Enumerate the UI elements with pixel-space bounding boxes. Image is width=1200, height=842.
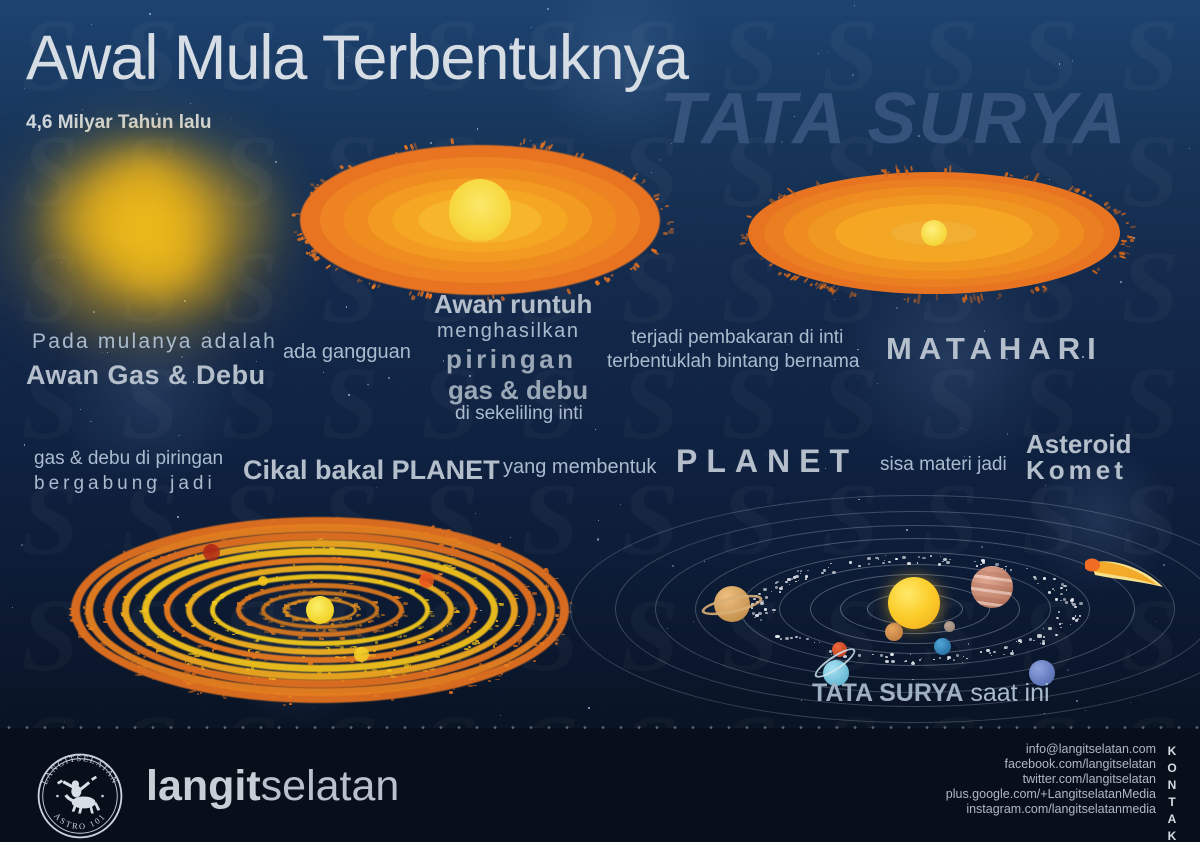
asteroid: [814, 642, 815, 643]
asteroid: [772, 609, 775, 612]
ring-fleck: [84, 612, 89, 615]
disk-edge-fleck: [769, 263, 773, 267]
ring-fleck: [347, 576, 351, 579]
disk-edge-fleck: [335, 267, 339, 271]
ring-fleck: [238, 607, 243, 609]
asteroid: [921, 658, 922, 659]
disk-edge-fleck: [655, 198, 660, 201]
star: [430, 142, 432, 144]
disk-edge-fleck: [1082, 190, 1087, 195]
asteroid: [1065, 601, 1068, 604]
disk-edge-fleck: [368, 282, 371, 285]
jupiter-bands: [971, 566, 1013, 608]
ring-fleck: [69, 614, 73, 616]
ring-fleck: [330, 547, 335, 550]
ring-fleck: [446, 643, 450, 645]
asteroid: [1037, 634, 1041, 637]
ring-fleck: [495, 598, 497, 600]
ring-fleck: [168, 554, 172, 557]
ring-fleck: [418, 628, 422, 630]
ring-fleck: [246, 668, 250, 671]
ring-fleck: [268, 620, 273, 622]
disk-edge-fleck: [668, 230, 675, 234]
asteroid: [986, 649, 990, 652]
ring-fleck: [328, 629, 330, 631]
caption-stage2: ada gangguan: [283, 341, 411, 364]
ring-fleck: [477, 642, 480, 644]
ring-fleck: [86, 624, 89, 627]
star: [443, 360, 444, 361]
caption-stage6-line2: bergabung jadi: [34, 473, 216, 495]
ring-fleck: [417, 641, 420, 644]
ring-fleck: [188, 653, 193, 655]
ring-fleck: [78, 632, 81, 635]
ring-fleck: [258, 569, 263, 570]
ring-fleck: [292, 602, 296, 605]
ring-fleck: [285, 614, 287, 616]
ring-fleck: [237, 565, 242, 568]
ring-fleck: [343, 656, 346, 659]
ring-fleck: [323, 546, 325, 548]
asteroid: [779, 591, 781, 593]
ring-fleck: [256, 651, 258, 653]
disk-edge-fleck: [936, 293, 938, 301]
ring-fleck: [301, 592, 305, 594]
ring-fleck: [350, 567, 353, 570]
asteroid: [867, 557, 871, 560]
caption-stage3-line2: menghasilkan: [437, 320, 580, 343]
ring-fleck: [469, 678, 473, 680]
gas-cloud-puff: [154, 240, 202, 273]
planet-earth: [934, 638, 951, 655]
ring-fleck: [298, 636, 303, 639]
ring-fleck: [105, 599, 107, 601]
ring-fleck: [219, 560, 222, 563]
ring-fleck: [105, 617, 107, 620]
gas-cloud-puff: [85, 130, 195, 219]
protostar-core: [306, 596, 334, 624]
star: [173, 297, 174, 298]
planet-venus: [885, 623, 903, 641]
disk-edge-fleck: [1009, 173, 1012, 176]
disk-edge-fleck: [404, 144, 409, 150]
ring-fleck: [357, 634, 362, 637]
asteroid: [787, 578, 790, 581]
asteroid: [764, 608, 767, 610]
star: [376, 487, 377, 488]
ring-fleck: [289, 703, 292, 705]
ring-fleck: [341, 680, 344, 682]
gas-cloud-puff: [109, 155, 173, 195]
disk-edge-fleck: [778, 271, 783, 276]
ring-fleck: [518, 616, 520, 617]
disk-edge-fleck: [746, 233, 749, 236]
contact-item[interactable]: instagram.com/langitselatanmedia: [946, 802, 1156, 817]
protoplanet-yellow: [354, 647, 369, 662]
asteroid: [807, 570, 808, 571]
ring-fleck: [473, 685, 477, 686]
protoplanetary-rings-illustration: [70, 515, 570, 705]
ring-fleck: [489, 628, 493, 630]
asteroid: [1061, 623, 1063, 624]
ring-fleck: [160, 556, 164, 557]
ring-fleck: [432, 525, 435, 527]
disk-edge-fleck: [320, 178, 326, 183]
asteroid: [1071, 598, 1074, 600]
ring-fleck: [70, 619, 75, 621]
protoplanetary-disk-collapsing: [300, 145, 660, 295]
asteroid: [1063, 585, 1066, 588]
gas-cloud-puff: [40, 233, 152, 342]
ring-fleck: [370, 620, 374, 622]
gas-cloud-puff: [46, 217, 100, 251]
ring-fleck: [306, 533, 309, 535]
gas-cloud-puff: [58, 169, 169, 243]
contact-list: info@langitselatan.comfacebook.com/langi…: [946, 742, 1156, 817]
ring-fleck: [182, 634, 186, 636]
caption-stage10: sisa materi jadi: [880, 454, 1007, 476]
ring-fleck: [234, 547, 236, 550]
ring-fleck: [468, 685, 473, 686]
asteroid: [946, 561, 950, 564]
ring-fleck: [378, 581, 383, 584]
ring-fleck: [448, 622, 452, 624]
disk-edge-fleck: [949, 166, 951, 173]
asteroid: [922, 557, 925, 560]
ring-fleck: [186, 682, 190, 685]
ring-fleck: [201, 668, 205, 670]
ring-fleck: [513, 645, 518, 647]
ring-fleck: [441, 629, 443, 632]
star: [80, 409, 81, 410]
caption-stage4-line1: terjadi pembakaran di inti: [631, 327, 843, 349]
ring-fleck: [103, 645, 106, 646]
disk-edge-fleck: [1097, 268, 1101, 272]
asteroid: [1043, 577, 1046, 579]
ring-fleck: [179, 534, 182, 536]
ring-fleck: [151, 559, 155, 561]
ring-fleck: [187, 663, 189, 664]
caption-stage3-line4: gas & debu: [448, 375, 588, 406]
disk-edge-fleck: [294, 213, 301, 215]
disk-edge-fleck: [996, 297, 1000, 300]
disk-edge-fleck: [747, 215, 752, 218]
caption-stage8: yang membentuk: [503, 456, 656, 479]
asteroid: [1029, 638, 1032, 640]
disk-edge-fleck: [917, 298, 921, 305]
disk-edge-fleck: [1030, 289, 1035, 295]
star: [451, 451, 452, 452]
asteroid: [758, 593, 761, 595]
watermark-letter: S: [200, 116, 300, 232]
star: [275, 161, 277, 163]
ring-fleck: [395, 621, 399, 623]
ring-fleck: [533, 623, 535, 625]
ring-fleck: [97, 583, 100, 585]
asteroid: [976, 565, 978, 567]
gas-cloud-puff: [46, 155, 152, 265]
disk-edge-fleck: [1121, 212, 1126, 216]
asteroid: [791, 578, 793, 579]
disk-edge-fleck: [550, 143, 554, 148]
ring-fleck: [479, 663, 482, 666]
disk-edge-fleck: [1113, 255, 1117, 259]
disk-edge-fleck: [1130, 239, 1134, 242]
caption-stage3-line5: di sekeliling inti: [455, 403, 583, 425]
kontak-label: KONTAK: [1165, 744, 1178, 842]
ring-fleck: [453, 607, 457, 610]
ring-fleck: [194, 655, 199, 657]
ring-fleck: [175, 592, 178, 595]
ring-fleck: [112, 560, 117, 562]
star: [346, 306, 347, 307]
ring-fleck: [414, 654, 419, 656]
ring-fleck: [192, 653, 197, 655]
ring-fleck: [156, 649, 158, 652]
ring-fleck: [241, 602, 245, 605]
contact-item[interactable]: plus.google.com/+LangitselatanMedia: [946, 787, 1156, 802]
ring-fleck: [267, 526, 269, 529]
star: [348, 394, 350, 396]
asteroid: [1079, 615, 1081, 616]
ring-fleck: [317, 671, 322, 674]
asteroid: [819, 642, 820, 643]
watermark-letter: S: [300, 348, 400, 464]
contact-item[interactable]: facebook.com/langitselatan: [946, 757, 1156, 772]
ring-fleck: [449, 691, 453, 694]
ring-fleck: [498, 675, 502, 677]
ring-fleck: [473, 577, 477, 579]
ring-fleck: [146, 643, 151, 646]
asteroid: [806, 638, 808, 640]
disk-edge-fleck: [663, 232, 668, 236]
ring-fleck: [274, 598, 276, 600]
ring-fleck: [223, 697, 227, 700]
ring-fleck: [211, 561, 213, 562]
ring-fleck: [450, 538, 455, 541]
ring-fleck: [329, 629, 333, 632]
ring-fleck: [143, 601, 148, 603]
star: [178, 435, 179, 436]
ring-fleck: [475, 604, 477, 607]
ring-fleck: [532, 592, 537, 595]
disk-edge-fleck: [962, 297, 966, 303]
star: [21, 544, 23, 546]
asteroid: [895, 558, 897, 560]
asteroid: [775, 635, 779, 638]
protoplanet-red: [203, 544, 220, 561]
star: [827, 52, 828, 53]
asteroid: [1048, 627, 1051, 630]
ring-fleck: [355, 628, 360, 630]
disk-edge-fleck: [519, 142, 521, 146]
ring-fleck: [264, 631, 268, 633]
ring-fleck: [246, 573, 250, 576]
disk-edge-fleck: [1089, 193, 1094, 198]
ring-fleck: [108, 620, 111, 622]
asteroid: [891, 660, 895, 663]
star: [93, 311, 95, 313]
title-tata-surya: TATA SURYA: [660, 78, 1128, 160]
asteroid: [1079, 602, 1083, 605]
disk-edge-fleck: [641, 180, 647, 185]
planet-mercury: [944, 621, 955, 632]
asteroid: [885, 656, 888, 658]
asteroid: [993, 651, 995, 653]
ring-fleck: [304, 530, 306, 532]
asteroid: [1004, 647, 1006, 649]
ring-fleck: [301, 629, 306, 631]
asteroid: [888, 561, 891, 563]
disk-edge-fleck: [371, 284, 377, 290]
disk-edge-fleck: [653, 251, 659, 255]
ring-fleck: [143, 669, 146, 670]
ring-fleck: [537, 613, 541, 616]
ring-fleck: [197, 645, 201, 648]
ring-fleck: [439, 544, 444, 546]
ring-fleck: [389, 625, 392, 627]
star: [82, 109, 83, 110]
ring-fleck: [227, 628, 229, 631]
asteroid: [832, 571, 836, 574]
asteroid: [1074, 606, 1077, 608]
disk-edge-fleck: [1130, 226, 1136, 229]
star: [367, 384, 369, 386]
asteroid: [930, 555, 932, 557]
caption-matahari: MATAHARI: [886, 331, 1103, 367]
asteroid: [1020, 641, 1023, 643]
gas-cloud-puff: [166, 164, 286, 265]
ring-fleck: [86, 608, 91, 610]
infographic-poster: SSSSSSSSSSSSSSSSSSSSSSSSSSSSSSSSSSSSSSSS…: [0, 0, 1200, 842]
star: [856, 377, 857, 378]
asteroid: [1010, 569, 1012, 571]
ring-fleck: [320, 538, 324, 540]
ring-fleck: [375, 601, 378, 604]
ring-fleck: [284, 604, 286, 606]
asteroid: [1058, 611, 1061, 613]
star: [598, 520, 599, 521]
asteroid: [799, 637, 800, 638]
asteroid: [902, 556, 905, 559]
gas-cloud-puff: [127, 255, 218, 338]
star: [149, 13, 151, 15]
ring-fleck: [192, 673, 196, 674]
contact-item[interactable]: twitter.com/langitselatan: [946, 772, 1156, 787]
ring-fleck: [393, 649, 396, 651]
ring-fleck: [246, 658, 251, 660]
seal-centaur-figure: [57, 776, 100, 814]
disk-edge-fleck: [665, 204, 670, 207]
asteroid: [880, 654, 883, 657]
star: [530, 140, 531, 141]
ring-fleck: [533, 660, 536, 662]
contact-item[interactable]: info@langitselatan.com: [946, 742, 1156, 757]
ring-fleck: [283, 704, 286, 705]
ring-fleck: [219, 596, 224, 599]
ring-fleck: [198, 592, 202, 595]
star: [1072, 60, 1074, 62]
asteroid: [760, 602, 764, 605]
caption-stage3-line1: Awan runtuh: [434, 289, 592, 320]
asteroid: [918, 556, 920, 558]
disk-edge-fleck: [741, 241, 743, 244]
star: [61, 262, 62, 263]
star: [834, 299, 835, 300]
ring-fleck: [546, 634, 548, 636]
disk-edge-fleck: [429, 293, 433, 299]
ring-fleck: [320, 590, 325, 591]
ring-fleck: [200, 692, 202, 694]
ring-fleck: [473, 580, 478, 582]
disk-edge-fleck: [1034, 286, 1039, 292]
asteroid: [1010, 652, 1014, 655]
asteroid: [980, 651, 982, 652]
ring-fleck: [355, 625, 357, 628]
ring-fleck: [272, 632, 276, 635]
ring-fleck: [197, 693, 199, 696]
ring-fleck: [504, 664, 509, 667]
star: [12, 607, 13, 608]
ring-fleck: [341, 619, 345, 621]
ring-fleck: [492, 563, 495, 566]
disk-edge-fleck: [667, 222, 670, 225]
disk-edge-fleck: [1119, 255, 1126, 259]
disk-edge-fleck: [1126, 221, 1130, 224]
caption-stage1-light: Pada mulanya adalah: [32, 330, 277, 354]
star: [1189, 148, 1190, 149]
gas-cloud-puff: [90, 159, 198, 243]
star: [547, 8, 549, 10]
disk-edge-fleck: [907, 297, 910, 303]
disk-edge-fleck: [522, 138, 525, 145]
ring-fleck: [145, 594, 150, 597]
brand-wordmark: langitselatan: [146, 762, 399, 811]
ring-fleck: [188, 691, 193, 694]
ring-fleck: [308, 662, 313, 665]
ring-fleck: [249, 595, 251, 597]
star: [896, 307, 898, 309]
star: [477, 128, 478, 129]
ring-fleck: [372, 603, 374, 606]
disk-edge-fleck: [325, 264, 331, 269]
gas-cloud-core: [70, 166, 220, 296]
seal-top-text: LANGITSELATAN: [39, 753, 120, 786]
caption-planet: PLANET: [676, 443, 858, 480]
ring-fleck: [403, 611, 405, 612]
star: [961, 428, 962, 429]
star: [64, 721, 65, 722]
disk-edge-fleck: [660, 207, 664, 210]
ring-fleck: [495, 679, 500, 680]
ring-fleck: [456, 549, 459, 552]
disk-edge-fleck: [631, 176, 636, 181]
disk-edge-fleck: [1125, 245, 1131, 247]
asteroid: [1055, 598, 1058, 601]
asteroid: [1059, 623, 1061, 625]
asteroid: [963, 656, 964, 657]
ring-fleck: [372, 669, 376, 671]
ring-fleck: [134, 652, 138, 653]
star: [90, 421, 91, 422]
star: [313, 707, 314, 708]
gas-cloud-puff: [71, 124, 140, 195]
star: [595, 429, 596, 430]
ring-fleck: [374, 695, 379, 697]
gas-cloud-puff: [158, 133, 291, 273]
newborn-star: [921, 220, 947, 246]
ring-fleck: [338, 557, 340, 559]
